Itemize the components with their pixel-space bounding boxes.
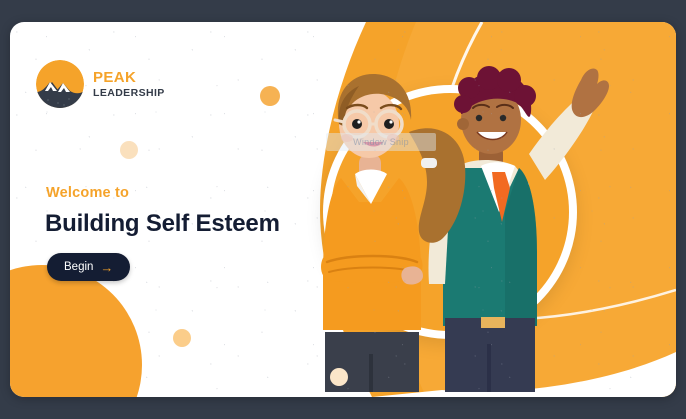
- corner-blob-decoration: [10, 265, 142, 397]
- welcome-eyebrow: Welcome to: [46, 185, 129, 201]
- dot-top-right: [260, 86, 280, 106]
- brand-logo[interactable]: PEAK LEADERSHIP: [36, 60, 165, 108]
- brand-wordmark: PEAK LEADERSHIP: [93, 70, 165, 99]
- begin-button-label: Begin: [64, 261, 93, 273]
- page-title: Building Self Esteem: [45, 210, 280, 238]
- dot-mid-left: [120, 141, 138, 159]
- snip-watermark: Window Snip: [326, 133, 436, 151]
- illustration-ring: [323, 85, 577, 339]
- app-window: PEAK LEADERSHIP Welcome to Building Self…: [0, 0, 686, 419]
- mountain-peak-circle-icon: [36, 60, 84, 108]
- brand-name-primary: PEAK: [93, 70, 165, 85]
- welcome-card: PEAK LEADERSHIP Welcome to Building Self…: [10, 22, 676, 397]
- brand-name-secondary: LEADERSHIP: [93, 88, 165, 99]
- begin-button[interactable]: Begin →: [47, 253, 130, 281]
- dot-lower-mid: [330, 368, 348, 386]
- illustration-circle-fill: [331, 93, 569, 331]
- arrow-right-icon: →: [100, 261, 113, 274]
- dot-lower-left: [173, 329, 191, 347]
